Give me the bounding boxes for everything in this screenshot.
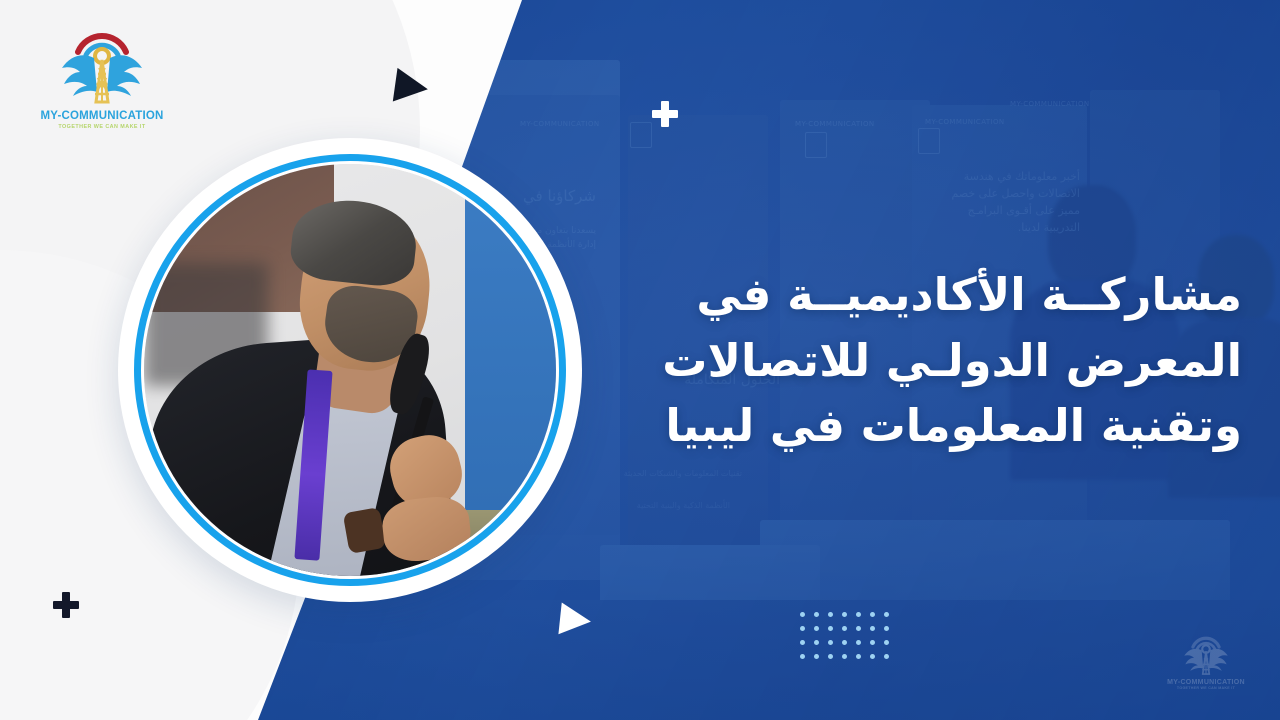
headline-line-1: مشاركــة الأكاديميــة في <box>542 262 1242 328</box>
portrait-photo <box>144 164 556 576</box>
grid-dot <box>856 612 861 617</box>
grid-dot <box>842 654 847 659</box>
photo-wristwatch <box>343 507 387 554</box>
grid-dot <box>842 640 847 645</box>
headline-line-3: وتقنية المعلومات في ليبيا <box>542 393 1242 459</box>
grid-dot <box>870 654 875 659</box>
grid-dot <box>870 640 875 645</box>
grid-dot <box>828 626 833 631</box>
plus-icon-dark <box>53 592 79 618</box>
grid-dot <box>814 626 819 631</box>
watermark-tagline: TOGETHER WE CAN MAKE IT <box>1146 686 1266 690</box>
grid-dot <box>842 626 847 631</box>
grid-dot <box>884 626 889 631</box>
grid-dot <box>884 640 889 645</box>
grid-dot <box>884 612 889 617</box>
grid-dot <box>800 654 805 659</box>
grid-dot <box>800 626 805 631</box>
grid-dot <box>870 612 875 617</box>
grid-dot <box>814 640 819 645</box>
poster-canvas: MY-COMMUNICATION MY-COMMUNICATION MY-COM… <box>0 0 1280 720</box>
communication-tower-wings-logo-icon <box>56 22 148 108</box>
grid-dot <box>856 640 861 645</box>
grid-dot <box>814 612 819 617</box>
plus-icon-white <box>652 101 678 127</box>
grid-dot <box>828 654 833 659</box>
brand-name: MY-COMMUNICATION <box>22 110 182 122</box>
grid-dot <box>856 626 861 631</box>
watermark-name: MY-COMMUNICATION <box>1146 679 1266 686</box>
communication-tower-wings-watermark-icon <box>1181 630 1231 678</box>
grid-dot <box>800 612 805 617</box>
grid-dot <box>884 654 889 659</box>
speaker-portrait <box>118 138 582 602</box>
dot-grid-decoration <box>800 612 898 668</box>
headline-line-2: المعرض الدولـي للاتصالات <box>542 328 1242 394</box>
grid-dot <box>870 626 875 631</box>
triangle-right-white-icon <box>558 602 592 637</box>
headline-title: مشاركــة الأكاديميــة في المعرض الدولـي … <box>542 262 1242 459</box>
brand-logo[interactable]: MY-COMMUNICATION TOGETHER WE CAN MAKE IT <box>22 22 182 130</box>
grid-dot <box>800 640 805 645</box>
brand-tagline: TOGETHER WE CAN MAKE IT <box>22 124 182 130</box>
grid-dot <box>814 654 819 659</box>
grid-dot <box>856 654 861 659</box>
brand-watermark: MY-COMMUNICATION TOGETHER WE CAN MAKE IT <box>1146 630 1266 690</box>
triangle-right-dark-icon <box>393 68 430 106</box>
grid-dot <box>828 640 833 645</box>
grid-dot <box>828 612 833 617</box>
grid-dot <box>842 612 847 617</box>
